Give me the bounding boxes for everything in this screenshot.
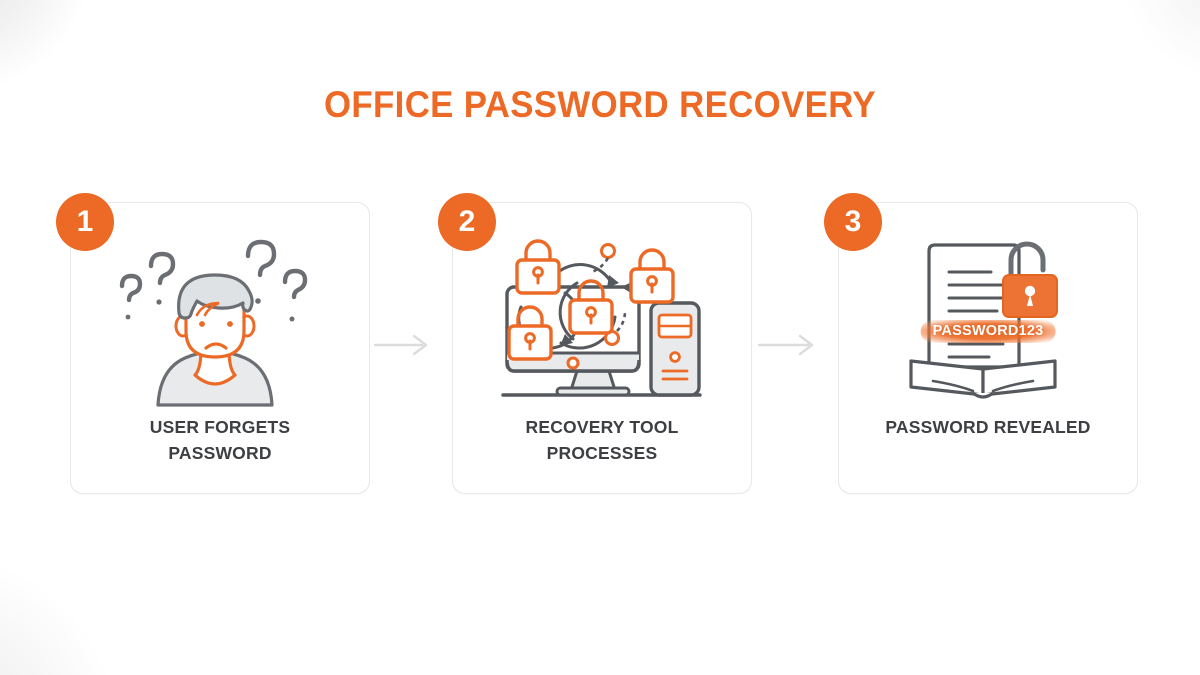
document-with-open-padlock-icon [893,229,1083,409]
step-number-badge-2: 2 [438,193,496,251]
step-label-1: USER FORGETS PASSWORD [80,414,360,466]
arrow-step1-to-step2 [374,332,432,358]
confused-person-with-question-marks-icon [113,229,328,409]
padlock-icon-1 [517,241,559,293]
step-number-badge-3: 3 [824,193,882,251]
revealed-password-text: PASSWORD123 [921,320,1056,343]
step-card-2[interactable]: 2 [452,202,752,494]
step-label-1-line1: USER FORGETS [150,417,290,437]
illustration-user-forgets-password [70,224,370,414]
step-label-3-line1: PASSWORD REVEALED [885,417,1090,437]
process-flow-diagram: 1 [0,0,1200,675]
illustration-password-revealed: PASSWORD123 [838,224,1138,414]
arrow-right-icon [758,332,818,358]
step-label-3: PASSWORD REVEALED [848,414,1128,440]
desktop-computer-with-padlocks-icon [495,229,710,409]
padlock-icon-4 [631,250,673,302]
step-number-badge-1: 1 [56,193,114,251]
step-card-3[interactable]: 3 [838,202,1138,494]
illustration-recovery-tool-processes [452,224,752,414]
arrow-right-icon [374,332,432,358]
arrow-step2-to-step3 [758,332,818,358]
step-card-1[interactable]: 1 [70,202,370,494]
step-label-2-line1: RECOVERY TOOL [526,417,679,437]
step-label-2-line2: PROCESSES [462,440,742,466]
step-label-1-line2: PASSWORD [80,440,360,466]
step-label-2: RECOVERY TOOL PROCESSES [462,414,742,466]
